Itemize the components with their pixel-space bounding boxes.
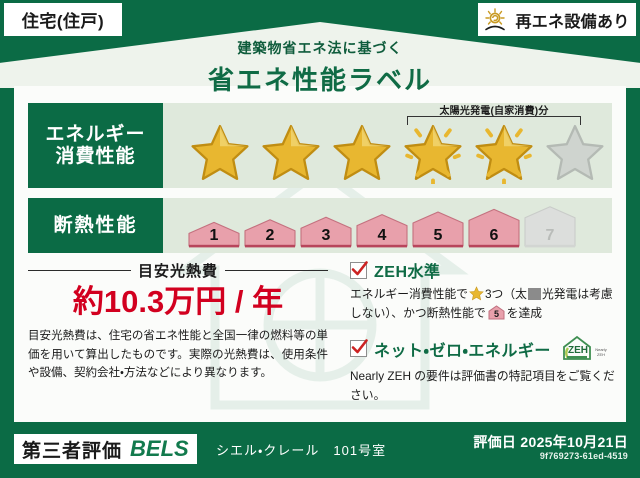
zeh-standard-title: ZEH水準: [374, 258, 441, 282]
house-step-number: 2: [266, 227, 275, 244]
zeh-desc-part2: 3つ（太: [485, 287, 527, 301]
zeh-standard-title-line: ZEH水準: [350, 258, 618, 282]
check-icon: [350, 338, 369, 357]
zeh-standard-block: ZEH水準 エネルギー消費性能で3つ（太光発電は考慮しない）、かつ断熱性能で5を…: [350, 258, 618, 326]
house-step-empty: 7: [523, 203, 577, 249]
house-step-number: 5: [434, 227, 443, 244]
title-main: 省エネ性能ラベル: [0, 60, 640, 97]
zeh-netzero-title-line: ネット・ゼロ・エネルギー ZEH Nearly ZEH: [350, 334, 618, 364]
svg-text:ZEH: ZEH: [597, 352, 605, 357]
house-step-number: 3: [322, 227, 331, 244]
building-type-label: 住宅(住戸): [22, 7, 104, 32]
insulation-performance-row: 断熱性能 1234567: [28, 198, 612, 253]
svg-text:ZEH: ZEH: [568, 345, 588, 356]
star-filled: [258, 122, 324, 184]
star-filled-solar: [400, 122, 466, 184]
bels-badge: 第三者評価 BELS: [14, 434, 197, 464]
star-filled: [329, 122, 395, 184]
star-filled: [187, 122, 253, 184]
zeh-desc-part1: エネルギー消費性能で: [350, 287, 468, 301]
house-step-number: 7: [546, 227, 555, 244]
energy-label-root: 住宅(住戸) 再エネ設備あり 建築物省エネ法に基づく 省エネ性能ラベル エネル: [0, 0, 640, 478]
house-step-filled: 3: [299, 203, 353, 249]
zeh-logo-icon: ZEH Nearly ZEH: [561, 334, 613, 364]
zeh-netzero-checkbox[interactable]: [350, 340, 367, 357]
utility-cost-section: 目安光熱費 約10.3万円 / 年 目安光熱費は、住宅の省エネ性能と全国一律の燃…: [28, 260, 328, 383]
house-step-number: 6: [490, 227, 499, 244]
energy-performance-row: エネルギー 消費性能 太陽光発電(自家消費)分: [28, 103, 612, 188]
utility-cost-description: 目安光熱費は、住宅の省エネ性能と全国一律の燃料等の単価を用いて算出したものです。…: [28, 327, 328, 383]
rule-left: [28, 270, 131, 272]
utility-cost-heading: 目安光熱費: [28, 260, 328, 281]
zeh-section: ZEH水準 エネルギー消費性能で3つ（太光発電は考慮しない）、かつ断熱性能で5を…: [350, 258, 618, 411]
zeh-netzero-title: ネット・ゼロ・エネルギー: [374, 337, 551, 361]
third-party-label: 第三者評価: [22, 436, 122, 463]
utility-cost-heading-text: 目安光熱費: [138, 260, 218, 281]
inline-star-icon: [469, 286, 484, 301]
solar-bracket: [407, 116, 581, 125]
house-step-filled: 6: [467, 203, 521, 249]
energy-performance-stars: 太陽光発電(自家消費)分: [163, 103, 612, 188]
insulation-label-text: 断熱性能: [53, 215, 137, 237]
zeh-standard-checkbox[interactable]: [350, 262, 367, 279]
house-step-filled: 1: [187, 203, 241, 249]
building-type-badge: 住宅(住戸): [4, 3, 122, 36]
inline-insulation-badge: 5: [488, 305, 505, 326]
solar-generation-note: 太陽光発電(自家消費)分: [399, 102, 589, 117]
property-name: シエル・クレール 101号室: [216, 440, 386, 459]
house-step-filled: 5: [411, 203, 465, 249]
title-subtitle: 建築物省エネ法に基づく: [0, 38, 640, 58]
insulation-performance-steps: 1234567: [163, 198, 612, 253]
evaluation-date: 評価日 2025年10月21日: [473, 432, 628, 452]
house-step-number: 1: [210, 227, 219, 244]
star-empty: [542, 122, 608, 184]
svg-text:5: 5: [494, 309, 499, 319]
page-title: 建築物省エネ法に基づく 省エネ性能ラベル: [0, 38, 640, 97]
house-step-filled: 4: [355, 203, 409, 249]
renewable-equipment-label: 再エネ設備あり: [515, 8, 629, 32]
redacted-mark: [528, 288, 541, 300]
check-icon: [350, 260, 369, 279]
zeh-desc-part4: を達成: [507, 306, 542, 320]
rule-right: [225, 270, 328, 272]
energy-label-line2: 消費性能: [55, 146, 135, 168]
footer-bar: 第三者評価 BELS シエル・クレール 101号室 評価日 2025年10月21…: [0, 426, 640, 478]
star-list: [187, 122, 608, 184]
inline-house-badge-icon: 5: [488, 305, 505, 320]
zeh-netzero-block: ネット・ゼロ・エネルギー ZEH Nearly ZEH Nearly ZEH の…: [350, 334, 618, 405]
evaluation-id: 9f769273-61ed-4519: [540, 451, 628, 461]
house-step-list: 1234567: [187, 203, 577, 249]
bels-wordmark: BELS: [130, 436, 189, 462]
energy-label-line1: エネルギー: [45, 124, 145, 146]
star-filled-solar: [471, 122, 537, 184]
utility-cost-amount: 約10.3万円 / 年: [28, 285, 328, 319]
zeh-standard-description: エネルギー消費性能で3つ（太光発電は考慮しない）、かつ断熱性能で5を達成: [350, 285, 618, 326]
energy-performance-label: エネルギー 消費性能: [28, 103, 163, 188]
insulation-performance-label: 断熱性能: [28, 198, 163, 253]
renewable-equipment-badge: 再エネ設備あり: [478, 3, 636, 36]
sun-icon: [484, 8, 510, 32]
zeh-netzero-description: Nearly ZEH の要件は評価書の特記項目をご覧ください。: [350, 367, 618, 405]
house-step-filled: 2: [243, 203, 297, 249]
house-step-number: 4: [378, 227, 387, 244]
